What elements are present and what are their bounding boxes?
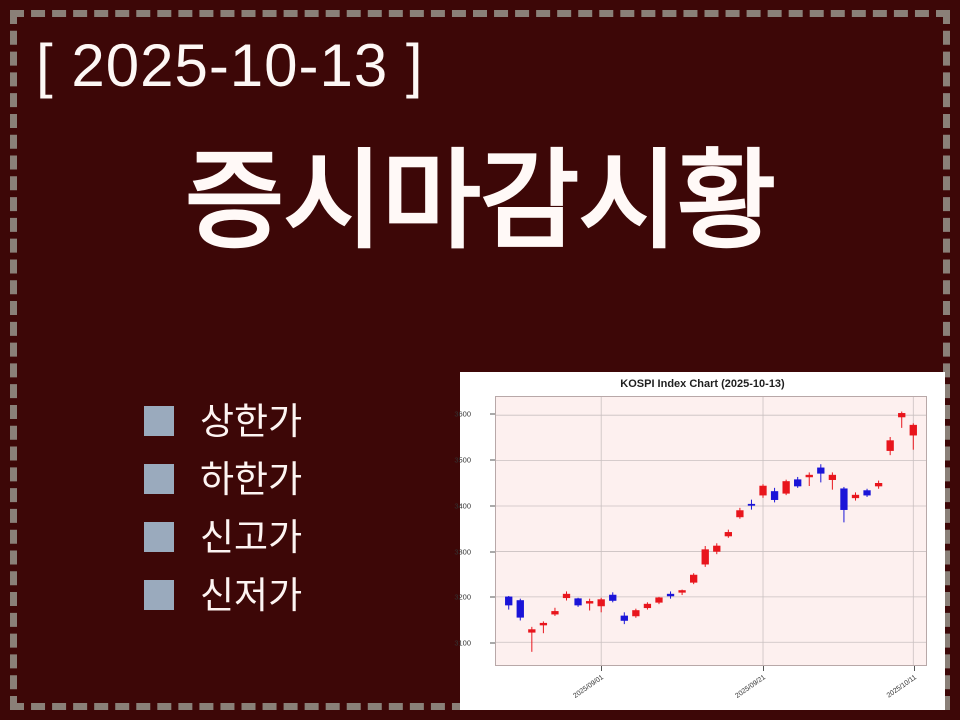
chart-card: KOSPI Index Chart (2025-10-13) 310032003… bbox=[460, 372, 945, 710]
candlestick-plot-area bbox=[495, 396, 927, 666]
list-item[interactable]: 하한가 bbox=[144, 450, 414, 508]
slide-root: [ 2025-10-13 ] 증시마감시황 상한가 하한가 신고가 신저가 KO… bbox=[0, 0, 960, 720]
legend-item-label: 하한가 bbox=[200, 461, 302, 498]
x-axis-tick-label: 2025/09/01 bbox=[552, 674, 605, 714]
legend-item-label: 신고가 bbox=[200, 519, 302, 556]
candlestick-series bbox=[496, 397, 926, 665]
legend-item-label: 신저가 bbox=[200, 577, 302, 614]
y-axis-tick-label: 3100 bbox=[454, 639, 471, 648]
x-axis-tick-label: 2025/10/11 bbox=[865, 674, 918, 714]
page-title: 증시마감시황 bbox=[0, 142, 960, 261]
x-axis-tick-mark bbox=[601, 666, 602, 671]
x-axis-tick-mark bbox=[763, 666, 764, 671]
square-bullet-icon bbox=[144, 522, 174, 552]
square-bullet-icon bbox=[144, 464, 174, 494]
y-axis-tick-label: 3400 bbox=[454, 501, 471, 510]
legend-list: 상한가 하한가 신고가 신저가 bbox=[144, 392, 414, 624]
y-axis-tick-label: 3300 bbox=[454, 547, 471, 556]
list-item[interactable]: 신고가 bbox=[144, 508, 414, 566]
x-axis-tick-mark bbox=[914, 666, 915, 671]
y-axis-tick-label: 3500 bbox=[454, 456, 471, 465]
date-header: [ 2025-10-13 ] bbox=[36, 36, 424, 96]
chart-title: KOSPI Index Chart (2025-10-13) bbox=[460, 378, 945, 390]
y-axis-tick-label: 3200 bbox=[454, 593, 471, 602]
square-bullet-icon bbox=[144, 406, 174, 436]
list-item[interactable]: 상한가 bbox=[144, 392, 414, 450]
y-axis-tick-label: 3600 bbox=[454, 410, 471, 419]
list-item[interactable]: 신저가 bbox=[144, 566, 414, 624]
legend-item-label: 상한가 bbox=[200, 403, 302, 440]
square-bullet-icon bbox=[144, 580, 174, 610]
x-axis-tick-label: 2025/09/21 bbox=[714, 674, 767, 714]
